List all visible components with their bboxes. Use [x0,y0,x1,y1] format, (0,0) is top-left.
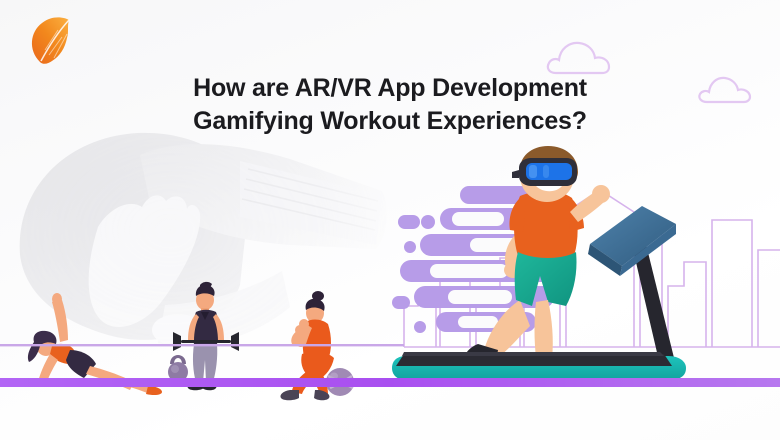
cloud-right-icon [699,78,750,102]
ground-line [0,378,780,387]
ar-vr-fitness-banner: How are AR/VR App Development Gamifying … [0,0,780,440]
vr-goggles-icon [512,158,577,186]
secondary-ground-line [0,344,404,346]
cloud-left-icon [548,43,609,73]
hair-bun [312,291,324,301]
kettlebell-icon [168,355,188,382]
barbell-lifter-man [168,282,239,390]
illustration-scene [0,0,780,440]
